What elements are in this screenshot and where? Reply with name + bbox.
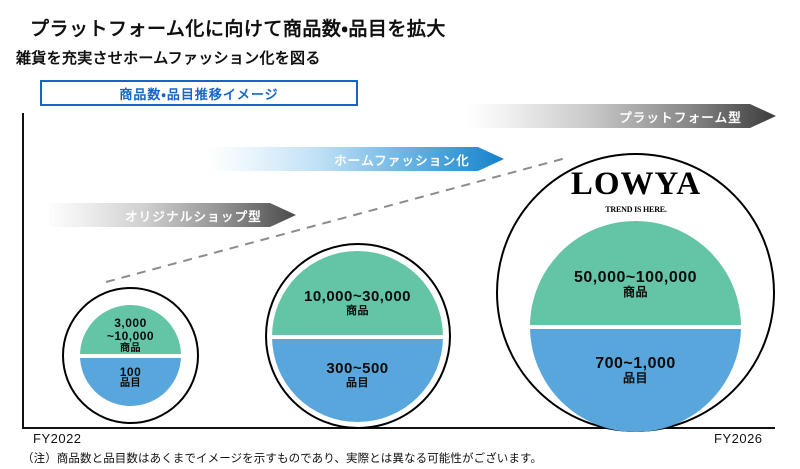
- lowya-wordmark: LOWYA: [546, 168, 726, 201]
- bubble-fy2022-products-value-line2: ~10,000: [107, 330, 154, 343]
- lowya-tagline: TREND IS HERE.: [546, 205, 726, 214]
- bubble-mid-items-half: 300~500 品目: [272, 337, 443, 423]
- bubble-fy2022-items-half: 100 品目: [80, 356, 181, 407]
- bubble-fy2026-products-value: 50,000~100,000: [574, 269, 697, 286]
- bubble-chart-fy2022: 3,000 ~10,000 商品 100 品目: [80, 305, 181, 406]
- bubble-fy2022-products-half: 3,000 ~10,000 商品: [80, 305, 181, 356]
- bubble-mid-items-value: 300~500: [326, 361, 388, 377]
- footnote: （注）商品数と品目数はあくまでイメージを示すものであり、実際とは異なる可能性がご…: [22, 450, 542, 466]
- banner-home-fashion: ホームファッション化: [207, 147, 504, 171]
- bubble-fy2026-products-half: 50,000~100,000 商品: [530, 221, 741, 327]
- bubble-fy2026-items-half: 700~1,000 品目: [530, 327, 741, 433]
- axis-label-end: FY2026: [714, 431, 763, 446]
- banner-platform: プラットフォーム型: [466, 104, 776, 128]
- y-axis-line: [22, 113, 24, 429]
- banner-platform-label: プラットフォーム型: [619, 107, 742, 126]
- page-title: プラットフォーム化に向けて商品数・品目を拡大: [30, 14, 446, 41]
- axis-label-start: FY2022: [33, 431, 82, 446]
- banner-home-fashion-label: ホームファッション化: [334, 150, 470, 169]
- lowya-logo: LOWYA TREND IS HERE.: [546, 168, 726, 214]
- bubble-fy2022-items-value: 100: [120, 366, 142, 379]
- banner-original-shop: オリジナルショップ型: [45, 203, 296, 227]
- page-subtitle: 雑貨を充実させホームファッション化を図る: [16, 47, 321, 68]
- chart-caption-box: 商品数・品目推移イメージ: [40, 80, 358, 106]
- bubble-fy2022-items-unit: 品目: [120, 378, 141, 390]
- bubble-fy2026-products-unit: 商品: [623, 286, 648, 300]
- bubble-mid-products-value: 10,000~30,000: [304, 289, 411, 305]
- bubble-fy2022-products-unit: 商品: [120, 343, 141, 355]
- bubble-chart-fy2026: 50,000~100,000 商品 700~1,000 品目: [530, 221, 741, 432]
- slide-root: { "headings": { "title": "プラットフォーム化に向けて商…: [0, 0, 800, 469]
- bubble-fy2026-items-unit: 品目: [623, 372, 648, 386]
- bubble-chart-mid: 10,000~30,000 商品 300~500 品目: [272, 251, 443, 422]
- bubble-mid-products-unit: 商品: [346, 305, 369, 318]
- bubble-fy2026-items-value: 700~1,000: [595, 355, 676, 372]
- bubble-mid-products-half: 10,000~30,000 商品: [272, 251, 443, 337]
- chart-caption-label: 商品数・品目推移イメージ: [119, 84, 278, 103]
- banner-original-shop-label: オリジナルショップ型: [125, 206, 262, 225]
- bubble-mid-items-unit: 品目: [346, 377, 369, 390]
- bubble-fy2022-products-value-line1: 3,000: [114, 317, 147, 330]
